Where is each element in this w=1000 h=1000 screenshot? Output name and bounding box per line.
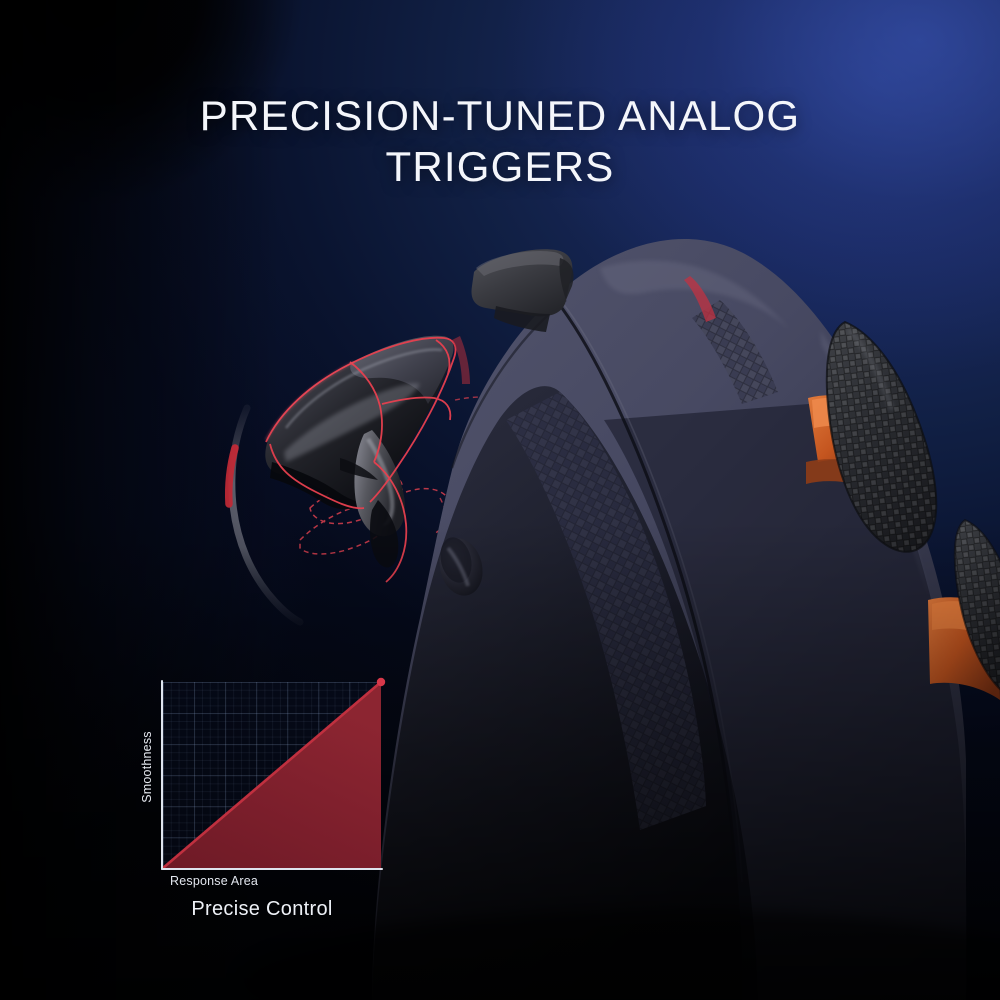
chart-endpoint-marker <box>377 678 385 686</box>
page-title-line-1: PRECISION-TUNED ANALOG <box>200 92 801 139</box>
chart-caption: Precise Control <box>128 898 396 921</box>
chart-y-axis-label: Smoothness <box>140 712 154 822</box>
feature-banner: PRECISION-TUNED ANALOG TRIGGERS <box>0 0 1000 1000</box>
chart-y-axis <box>161 680 163 870</box>
chart-x-axis <box>161 868 383 870</box>
chart-x-axis-label: Response Area <box>170 874 258 888</box>
page-title: PRECISION-TUNED ANALOG TRIGGERS <box>0 90 1000 192</box>
response-chart: Smoothness Response Area Precise Control <box>128 668 396 930</box>
page-title-line-2: TRIGGERS <box>0 141 1000 192</box>
chart-marker-layer <box>163 682 381 868</box>
chart-plot-area <box>163 682 381 868</box>
